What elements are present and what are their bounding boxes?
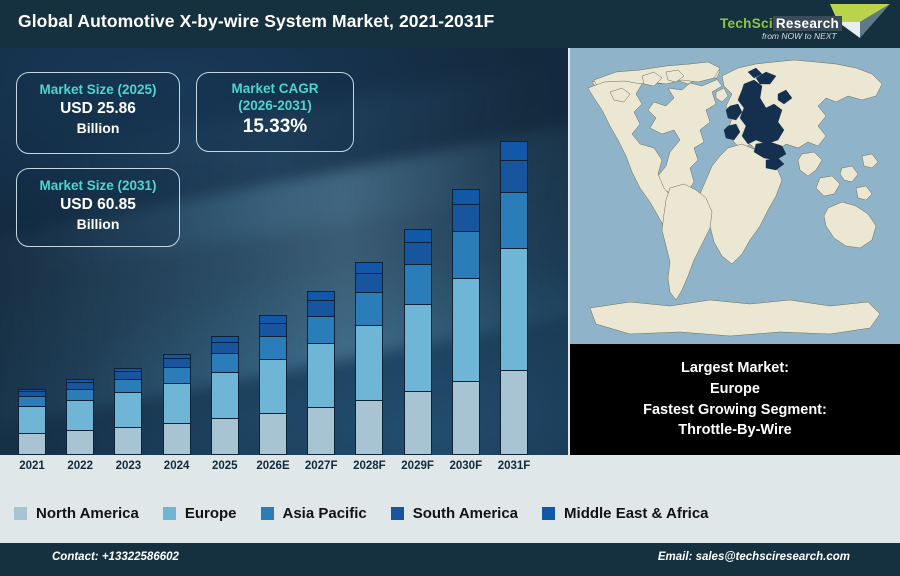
legend-swatch-icon	[542, 507, 555, 520]
bar-segment-asia-pacific-2027F	[307, 316, 335, 345]
bar-segment-europe-2029F	[404, 304, 432, 393]
bar-segment-asia-pacific-2029F	[404, 264, 432, 304]
bar-segment-south-america-2026E	[259, 323, 287, 337]
world-map	[570, 48, 900, 344]
largest-market-label: Largest Market:	[681, 358, 789, 379]
world-map-svg	[570, 48, 900, 344]
bar-segment-europe-2023	[114, 392, 142, 428]
bar-segment-europe-2026E	[259, 359, 287, 414]
bar-2022	[66, 380, 94, 455]
bar-segment-asia-pacific-2030F	[452, 231, 480, 279]
axis-label-2025: 2025	[199, 460, 251, 472]
legend-label: Middle East & Africa	[564, 505, 708, 522]
bar-segment-asia-pacific-2028F	[355, 292, 383, 326]
bar-segment-europe-2021	[18, 406, 46, 433]
bar-2030F	[452, 190, 480, 455]
legend-label: South America	[413, 505, 518, 522]
largest-market-value: Europe	[710, 379, 760, 400]
techsci-research-logo: TechSciResearch from NOW to NEXT	[710, 2, 892, 46]
bar-segment-europe-2027F	[307, 343, 335, 408]
bar-2023	[114, 369, 142, 455]
legend-swatch-icon	[391, 507, 404, 520]
stat-unit: Billion	[17, 215, 179, 233]
stat-title: Market Size (2025)	[17, 82, 179, 99]
bar-segment-europe-2024	[163, 383, 191, 424]
stat-value: USD 25.86	[17, 99, 179, 119]
bar-segment-south-america-2027F	[307, 300, 335, 317]
x-axis: 202120222023202420252026E2027F2028F2029F…	[0, 455, 568, 483]
bar-segment-north-america-2022	[66, 430, 94, 455]
footer-email: Email: sales@techsciresearch.com	[658, 551, 850, 563]
legend-swatch-icon	[14, 507, 27, 520]
bar-segment-north-america-2028F	[355, 400, 383, 455]
legend-item-asia-pacific: Asia Pacific	[261, 505, 367, 522]
bar-segment-north-america-2027F	[307, 407, 335, 455]
stat-title-line2: (2026-2031)	[197, 98, 353, 115]
key-findings-box: Largest Market: Europe Fastest Growing S…	[570, 344, 900, 455]
legend-item-middle-east-africa: Middle East & Africa	[542, 505, 708, 522]
fastest-segment-label: Fastest Growing Segment:	[643, 400, 827, 421]
bar-segment-north-america-2030F	[452, 381, 480, 455]
page-title: Global Automotive X-by-wire System Marke…	[18, 11, 494, 32]
bar-segment-europe-2028F	[355, 325, 383, 401]
bar-segment-north-america-2021	[18, 433, 46, 455]
bar-segment-north-america-2029F	[404, 391, 432, 455]
bar-2031F	[500, 142, 528, 455]
header-bar: Global Automotive X-by-wire System Marke…	[0, 0, 900, 48]
stat-title: Market Size (2031)	[17, 178, 179, 195]
logo-wordmark: TechSciResearch	[720, 16, 842, 31]
bar-segment-middle-east-africa-2031F	[500, 141, 528, 161]
bar-segment-north-america-2024	[163, 423, 191, 455]
axis-label-2024: 2024	[151, 460, 203, 472]
bar-segment-asia-pacific-2031F	[500, 192, 528, 249]
stat-market-cagr: Market CAGR (2026-2031) 15.33%	[196, 72, 354, 152]
bar-segment-europe-2022	[66, 400, 94, 431]
bar-2026E	[259, 316, 287, 455]
bar-2024	[163, 355, 191, 455]
axis-label-2030F: 2030F	[440, 460, 492, 472]
bar-2028F	[355, 263, 383, 455]
stat-value: 15.33%	[197, 115, 353, 140]
bar-segment-south-america-2028F	[355, 273, 383, 293]
bar-2027F	[307, 292, 335, 455]
stat-value: USD 60.85	[17, 195, 179, 215]
legend-swatch-icon	[163, 507, 176, 520]
logo-techsci: TechSci	[720, 16, 773, 31]
bar-segment-europe-2031F	[500, 248, 528, 371]
chart-legend: North AmericaEuropeAsia PacificSouth Ame…	[0, 483, 900, 543]
bar-segment-middle-east-africa-2029F	[404, 229, 432, 243]
infographic-root: Global Automotive X-by-wire System Marke…	[0, 0, 900, 576]
bar-segment-south-america-2029F	[404, 242, 432, 266]
bar-segment-asia-pacific-2026E	[259, 336, 287, 360]
legend-label: Europe	[185, 505, 237, 522]
axis-label-2028F: 2028F	[343, 460, 395, 472]
bar-segment-europe-2025	[211, 372, 239, 420]
axis-label-2031F: 2031F	[488, 460, 540, 472]
footer-bar: Contact: +13322586602 Email: sales@techs…	[0, 543, 900, 576]
bar-segment-europe-2030F	[452, 278, 480, 382]
axis-label-2029F: 2029F	[392, 460, 444, 472]
bar-2021	[18, 390, 46, 455]
bar-segment-asia-pacific-2025	[211, 353, 239, 373]
axis-label-2021: 2021	[6, 460, 58, 472]
legend-item-south-america: South America	[391, 505, 518, 522]
bar-segment-north-america-2026E	[259, 413, 287, 455]
bar-2025	[211, 337, 239, 455]
bar-segment-middle-east-africa-2030F	[452, 189, 480, 206]
logo-tagline: from NOW to NEXT	[762, 31, 837, 41]
bar-segment-north-america-2031F	[500, 370, 528, 455]
legend-label: Asia Pacific	[283, 505, 367, 522]
stat-title-line1: Market CAGR	[197, 81, 353, 98]
bar-segment-south-america-2030F	[452, 204, 480, 232]
logo-research: Research	[773, 16, 842, 31]
bar-segment-asia-pacific-2023	[114, 379, 142, 394]
bar-segment-north-america-2025	[211, 418, 239, 455]
axis-label-2027F: 2027F	[295, 460, 347, 472]
fastest-segment-value: Throttle-By-Wire	[678, 420, 791, 441]
bar-segment-north-america-2023	[114, 427, 142, 455]
footer-contact: Contact: +13322586602	[52, 551, 179, 563]
stat-market-size-2025: Market Size (2025) USD 25.86 Billion	[16, 72, 180, 154]
axis-label-2026E: 2026E	[247, 460, 299, 472]
axis-label-2022: 2022	[54, 460, 106, 472]
bar-2029F	[404, 230, 432, 455]
legend-item-europe: Europe	[163, 505, 237, 522]
stat-unit: Billion	[17, 119, 179, 137]
legend-swatch-icon	[261, 507, 274, 520]
axis-label-2023: 2023	[102, 460, 154, 472]
legend-label: North America	[36, 505, 139, 522]
bar-segment-south-america-2031F	[500, 160, 528, 193]
bar-segment-asia-pacific-2024	[163, 367, 191, 384]
stat-market-size-2031: Market Size (2031) USD 60.85 Billion	[16, 168, 180, 247]
legend-item-north-america: North America	[14, 505, 139, 522]
